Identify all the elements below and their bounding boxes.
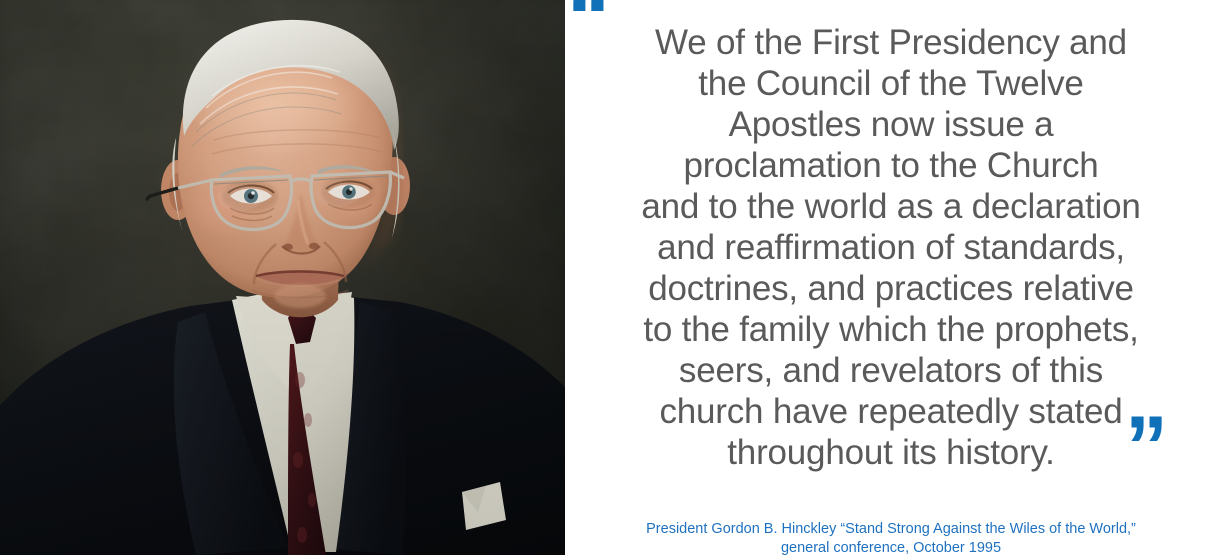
quote-pane: “ We of the First Presidency and the Cou… (565, 0, 1217, 555)
quote-line: church have repeatedly stated (595, 391, 1187, 432)
quote-line: Apostles now issue a (595, 104, 1187, 145)
portrait-photo (0, 0, 565, 555)
portrait-photo-graphic (0, 0, 565, 555)
quote-line: and reaffirmation of standards, (595, 227, 1187, 268)
open-quote-mark: “ (567, 0, 615, 18)
quote-line: seers, and revelators of this (595, 350, 1187, 391)
quote-slide: “ We of the First Presidency and the Cou… (0, 0, 1217, 555)
quote-line: the Council of the Twelve (595, 63, 1187, 104)
quote-line: doctrines, and practices relative (595, 268, 1187, 309)
quote-line: to the family which the prophets, (595, 309, 1187, 350)
attribution: President Gordon B. Hinckley “Stand Stro… (585, 520, 1197, 555)
close-quote-mark: ” (1125, 404, 1185, 464)
attribution-line: general conference, October 1995 (585, 539, 1197, 555)
attribution-line: President Gordon B. Hinckley “Stand Stro… (585, 520, 1197, 539)
quote-line: proclamation to the Church (595, 145, 1187, 186)
quote-text: We of the First Presidency and the Counc… (595, 22, 1187, 473)
quote-line: and to the world as a declaration (595, 186, 1187, 227)
quote-line: throughout its history. (595, 432, 1187, 473)
quote-line: We of the First Presidency and (595, 22, 1187, 63)
